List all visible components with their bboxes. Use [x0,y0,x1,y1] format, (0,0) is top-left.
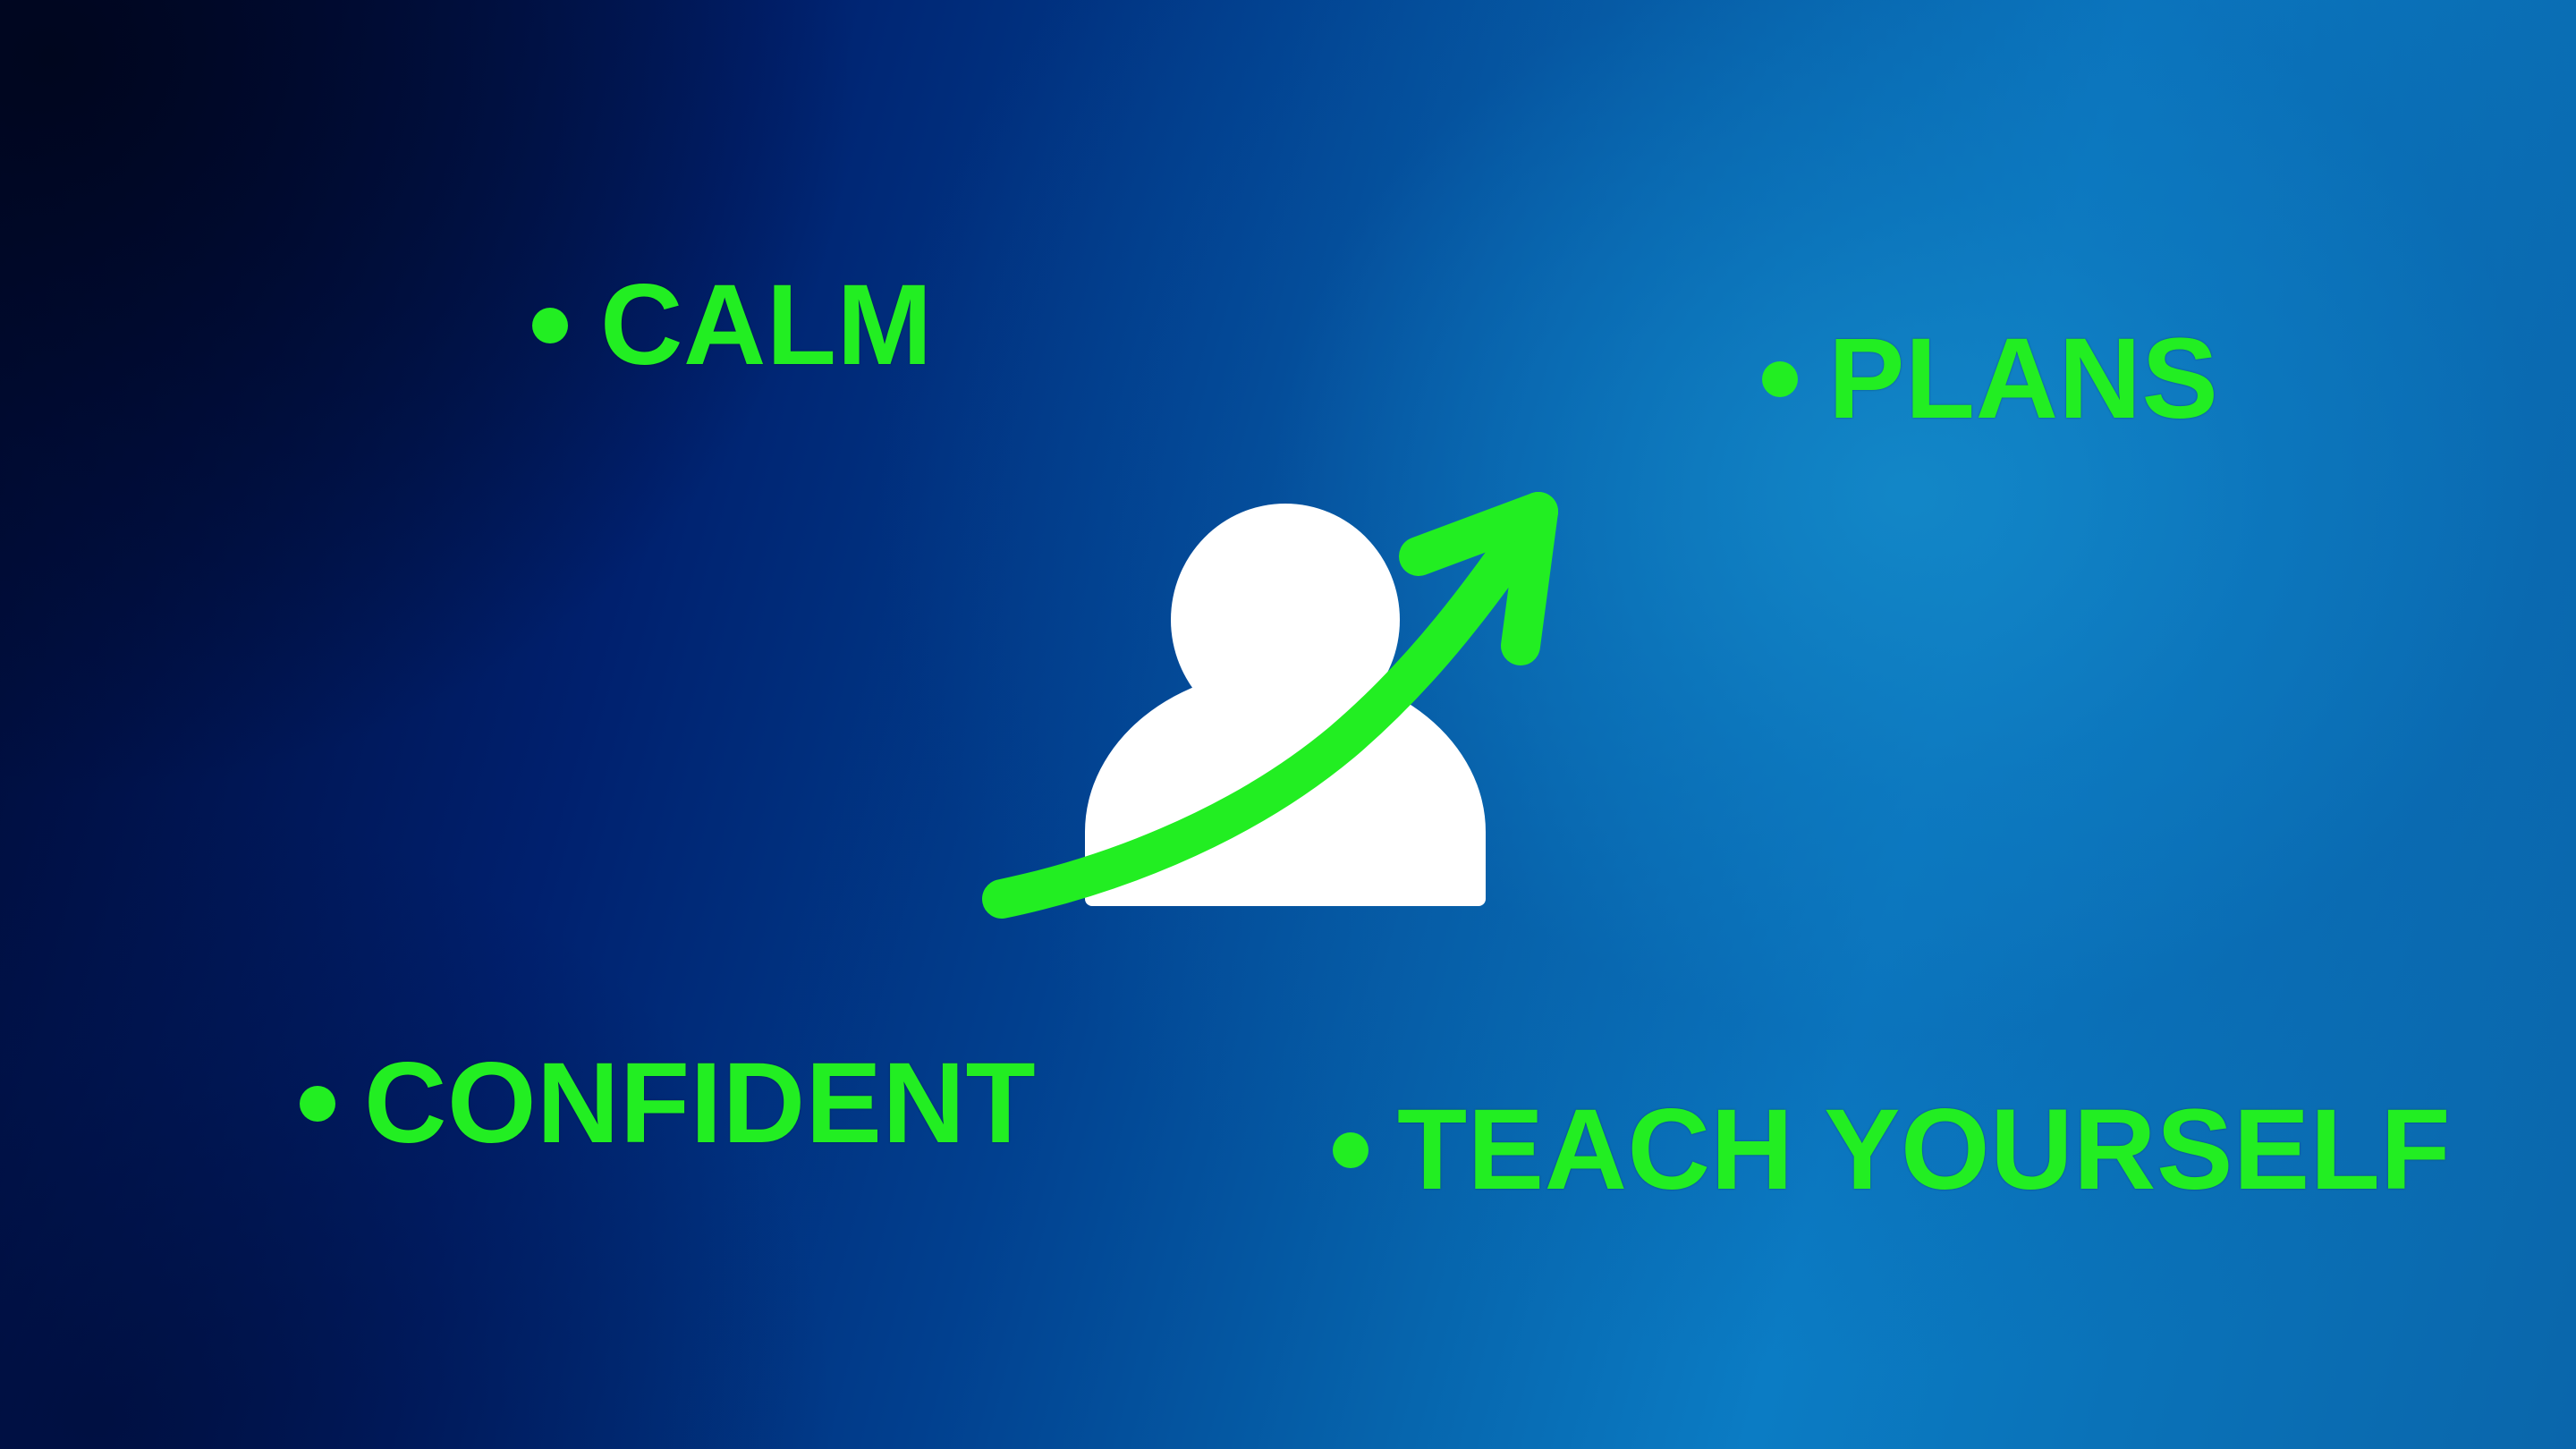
bullet-label-confident: CONFIDENT [364,1046,1036,1161]
bullet-item-calm: CALM [532,268,933,383]
bullet-dot-icon [532,308,568,343]
person-growth-arrow-icon [966,474,1628,930]
bullet-item-confident: CONFIDENT [300,1046,1036,1161]
bullet-label-teach-yourself: TEACH YOURSELF [1397,1093,2451,1207]
slide-canvas: CALM PLANS CONFIDENT TEACH YOURSELF [0,0,2576,1449]
bullet-dot-icon [300,1086,335,1122]
bullet-dot-icon [1333,1132,1368,1168]
bullet-item-plans: PLANS [1762,322,2218,436]
bullet-item-teach-yourself: TEACH YOURSELF [1333,1093,2451,1207]
bullet-label-calm: CALM [600,268,933,383]
arrow-barb-right [1521,512,1538,646]
bullet-dot-icon [1762,361,1798,397]
bullet-label-plans: PLANS [1828,322,2218,436]
